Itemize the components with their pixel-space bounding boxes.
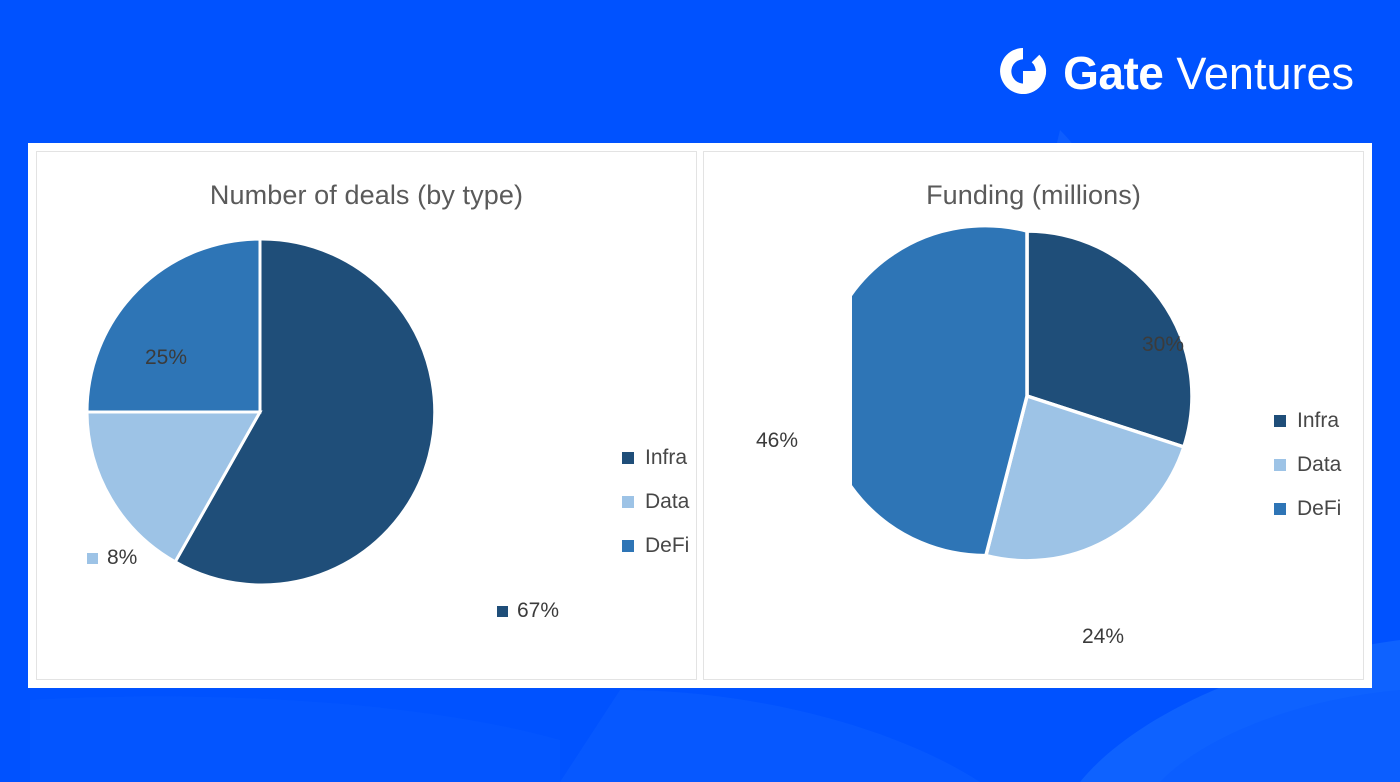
data-label-value: 25% [145,346,187,370]
data-label-data-funding: 24% [1082,625,1124,649]
brand-name-ventures: Ventures [1176,51,1354,96]
legend-swatch-infra-icon [1274,415,1286,427]
chart-title-deals: Number of deals (by type) [37,152,696,211]
data-label-value: 46% [756,429,798,453]
data-label-value: 24% [1082,625,1124,649]
pie-slice-defi [87,239,260,412]
chart-title-funding: Funding (millions) [704,152,1363,211]
data-label-data-deals: 8% [87,546,137,570]
legend-label: Data [645,490,689,514]
data-label-value: 30% [1142,333,1184,357]
legend-item-infra[interactable]: Infra [1274,409,1341,433]
legend-item-infra[interactable]: Infra [622,446,689,470]
funding-millions-panel: Funding (millions) 30% [703,151,1364,680]
legend-item-data[interactable]: Data [622,490,689,514]
gate-logo-mark-icon [996,44,1050,103]
slide-root: Gate Ventures Number of deals (by type) [0,0,1400,782]
data-label-marker-icon [125,353,136,364]
brand-name-gate: Gate [1063,50,1163,96]
legend-deals: Infra Data DeFi [622,446,689,558]
legend-item-data[interactable]: Data [1274,453,1341,477]
data-label-value: 67% [517,599,559,623]
legend-label: DeFi [1297,497,1341,521]
legend-label: Infra [1297,409,1339,433]
legend-swatch-defi-icon [622,540,634,552]
data-label-defi-funding: 46% [756,429,798,453]
pie-chart-funding [704,211,1363,679]
data-label-marker-icon [87,553,98,564]
legend-item-defi[interactable]: DeFi [1274,497,1341,521]
deals-by-type-panel: Number of deals (by type) [36,151,697,680]
charts-frame: Number of deals (by type) [28,143,1372,688]
data-label-value: 8% [107,546,137,570]
legend-label: DeFi [645,534,689,558]
brand-logo: Gate Ventures [996,44,1354,102]
legend-item-defi[interactable]: DeFi [622,534,689,558]
legend-swatch-defi-icon [1274,503,1286,515]
legend-swatch-data-icon [1274,459,1286,471]
legend-label: Infra [645,446,687,470]
chart-body-funding: 30% 46% 24% Infra [704,211,1363,679]
data-label-infra-deals: 67% [497,599,559,623]
legend-swatch-infra-icon [622,452,634,464]
pie-chart-deals [37,211,696,679]
data-label-defi-deals: 25% [125,346,187,370]
data-label-infra-funding: 30% [1142,333,1184,357]
legend-label: Data [1297,453,1341,477]
chart-body-deals: 25% 8% 67% Infra [37,211,696,679]
legend-funding: Infra Data DeFi [1274,409,1341,521]
legend-swatch-data-icon [622,496,634,508]
data-label-marker-icon [497,606,508,617]
